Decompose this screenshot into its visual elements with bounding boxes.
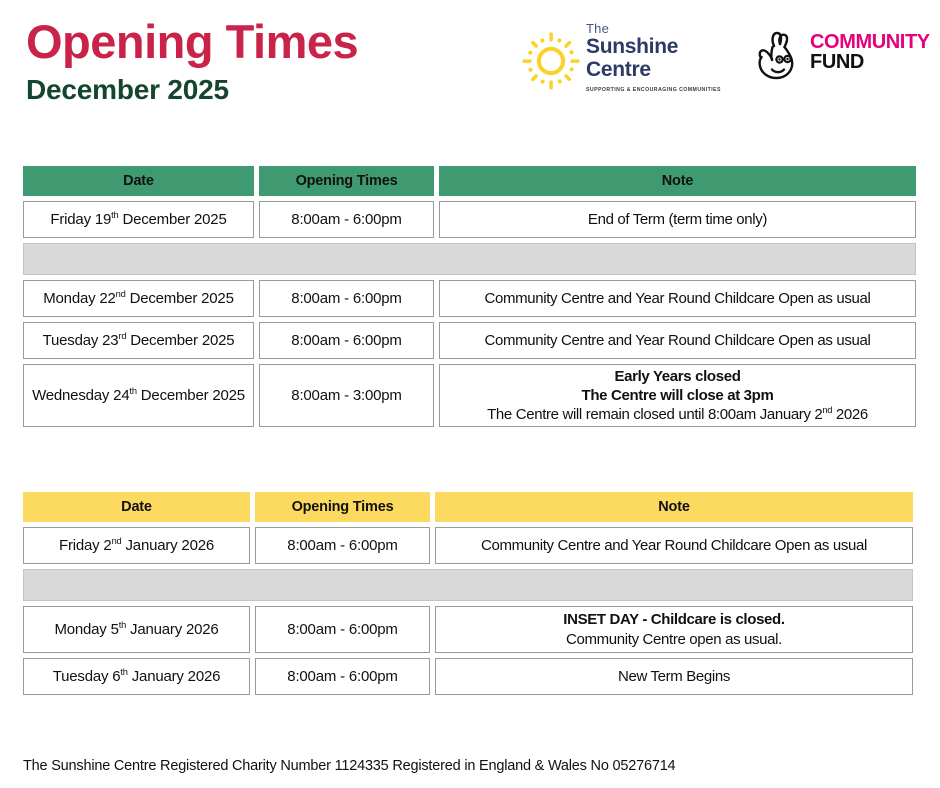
sun-icon	[520, 30, 582, 92]
cell-opening-times: 8:00am - 3:00pm	[259, 364, 434, 427]
table-row: Friday 2nd January 20268:00am - 6:00pmCo…	[23, 527, 913, 564]
table-row: Tuesday 6th January 20268:00am - 6:00pmN…	[23, 658, 913, 695]
table-header-row: Date Opening Times Note	[23, 166, 916, 196]
crossed-fingers-hand-icon	[752, 26, 810, 84]
title-block: Opening Times December 2025	[26, 18, 358, 104]
cell-date: Friday 19th December 2025	[23, 201, 254, 238]
column-header-note: Note	[439, 166, 916, 196]
table-spacer-row	[23, 243, 916, 275]
table-row: Monday 5th January 20268:00am - 6:00pmIN…	[23, 606, 913, 653]
column-header-note: Note	[435, 492, 913, 522]
cell-date: Tuesday 23rd December 2025	[23, 322, 254, 359]
cell-date: Monday 5th January 2026	[23, 606, 250, 653]
sunshine-centre-logo: The Sunshine Centre SUPPORTING & ENCOURA…	[516, 22, 726, 102]
cell-note: New Term Begins	[435, 658, 913, 695]
footer-registration-text: The Sunshine Centre Registered Charity N…	[23, 758, 675, 774]
january-schedule-table: Date Opening Times Note Friday 2nd Janua…	[23, 492, 913, 700]
december-schedule-table: Date Opening Times Note Friday 19th Dece…	[23, 166, 916, 432]
cell-opening-times: 8:00am - 6:00pm	[255, 606, 430, 653]
table-row: Monday 22nd December 20258:00am - 6:00pm…	[23, 280, 916, 317]
logo-fund: FUND	[810, 52, 930, 73]
table-header-row: Date Opening Times Note	[23, 492, 913, 522]
page-subtitle: December 2025	[26, 76, 358, 104]
cell-date: Friday 2nd January 2026	[23, 527, 250, 564]
table-row: Tuesday 23rd December 20258:00am - 6:00p…	[23, 322, 916, 359]
cell-note: Community Centre and Year Round Childcar…	[435, 527, 913, 564]
logo-sunshine: Sunshine	[586, 36, 726, 58]
cell-opening-times: 8:00am - 6:00pm	[259, 280, 434, 317]
community-fund-logo: COMMUNITY FUND	[752, 26, 922, 86]
logo-centre: Centre	[586, 59, 726, 81]
logo-the: The	[586, 22, 726, 36]
cell-opening-times: 8:00am - 6:00pm	[259, 201, 434, 238]
sunshine-centre-wordmark: The Sunshine Centre SUPPORTING & ENCOURA…	[586, 22, 726, 93]
opening-times-poster: Opening Times December 2025	[0, 0, 940, 788]
cell-date: Monday 22nd December 2025	[23, 280, 254, 317]
cell-note: Community Centre and Year Round Childcar…	[439, 322, 916, 359]
table-spacer-row	[23, 569, 913, 601]
december-table-body: Friday 19th December 20258:00am - 6:00pm…	[23, 201, 916, 427]
column-header-opening-times: Opening Times	[259, 166, 434, 196]
community-fund-wordmark: COMMUNITY FUND	[810, 32, 930, 73]
cell-opening-times: 8:00am - 6:00pm	[255, 527, 430, 564]
cell-opening-times: 8:00am - 6:00pm	[255, 658, 430, 695]
cell-opening-times: 8:00am - 6:00pm	[259, 322, 434, 359]
cell-note: INSET DAY - Childcare is closed.Communit…	[435, 606, 913, 653]
cell-note: Early Years closedThe Centre will close …	[439, 364, 916, 427]
january-table-body: Friday 2nd January 20268:00am - 6:00pmCo…	[23, 527, 913, 695]
poster-header: Opening Times December 2025	[0, 0, 940, 150]
page-title: Opening Times	[26, 18, 358, 65]
logo-community: COMMUNITY	[810, 32, 930, 52]
column-header-opening-times: Opening Times	[255, 492, 430, 522]
logo-tagline: SUPPORTING & ENCOURAGING COMMUNITIES	[586, 87, 726, 93]
cell-date: Wednesday 24th December 2025	[23, 364, 254, 427]
column-header-date: Date	[23, 492, 250, 522]
cell-date: Tuesday 6th January 2026	[23, 658, 250, 695]
cell-note: End of Term (term time only)	[439, 201, 916, 238]
table-row: Wednesday 24th December 20258:00am - 3:0…	[23, 364, 916, 427]
column-header-date: Date	[23, 166, 254, 196]
table-row: Friday 19th December 20258:00am - 6:00pm…	[23, 201, 916, 238]
cell-note: Community Centre and Year Round Childcar…	[439, 280, 916, 317]
